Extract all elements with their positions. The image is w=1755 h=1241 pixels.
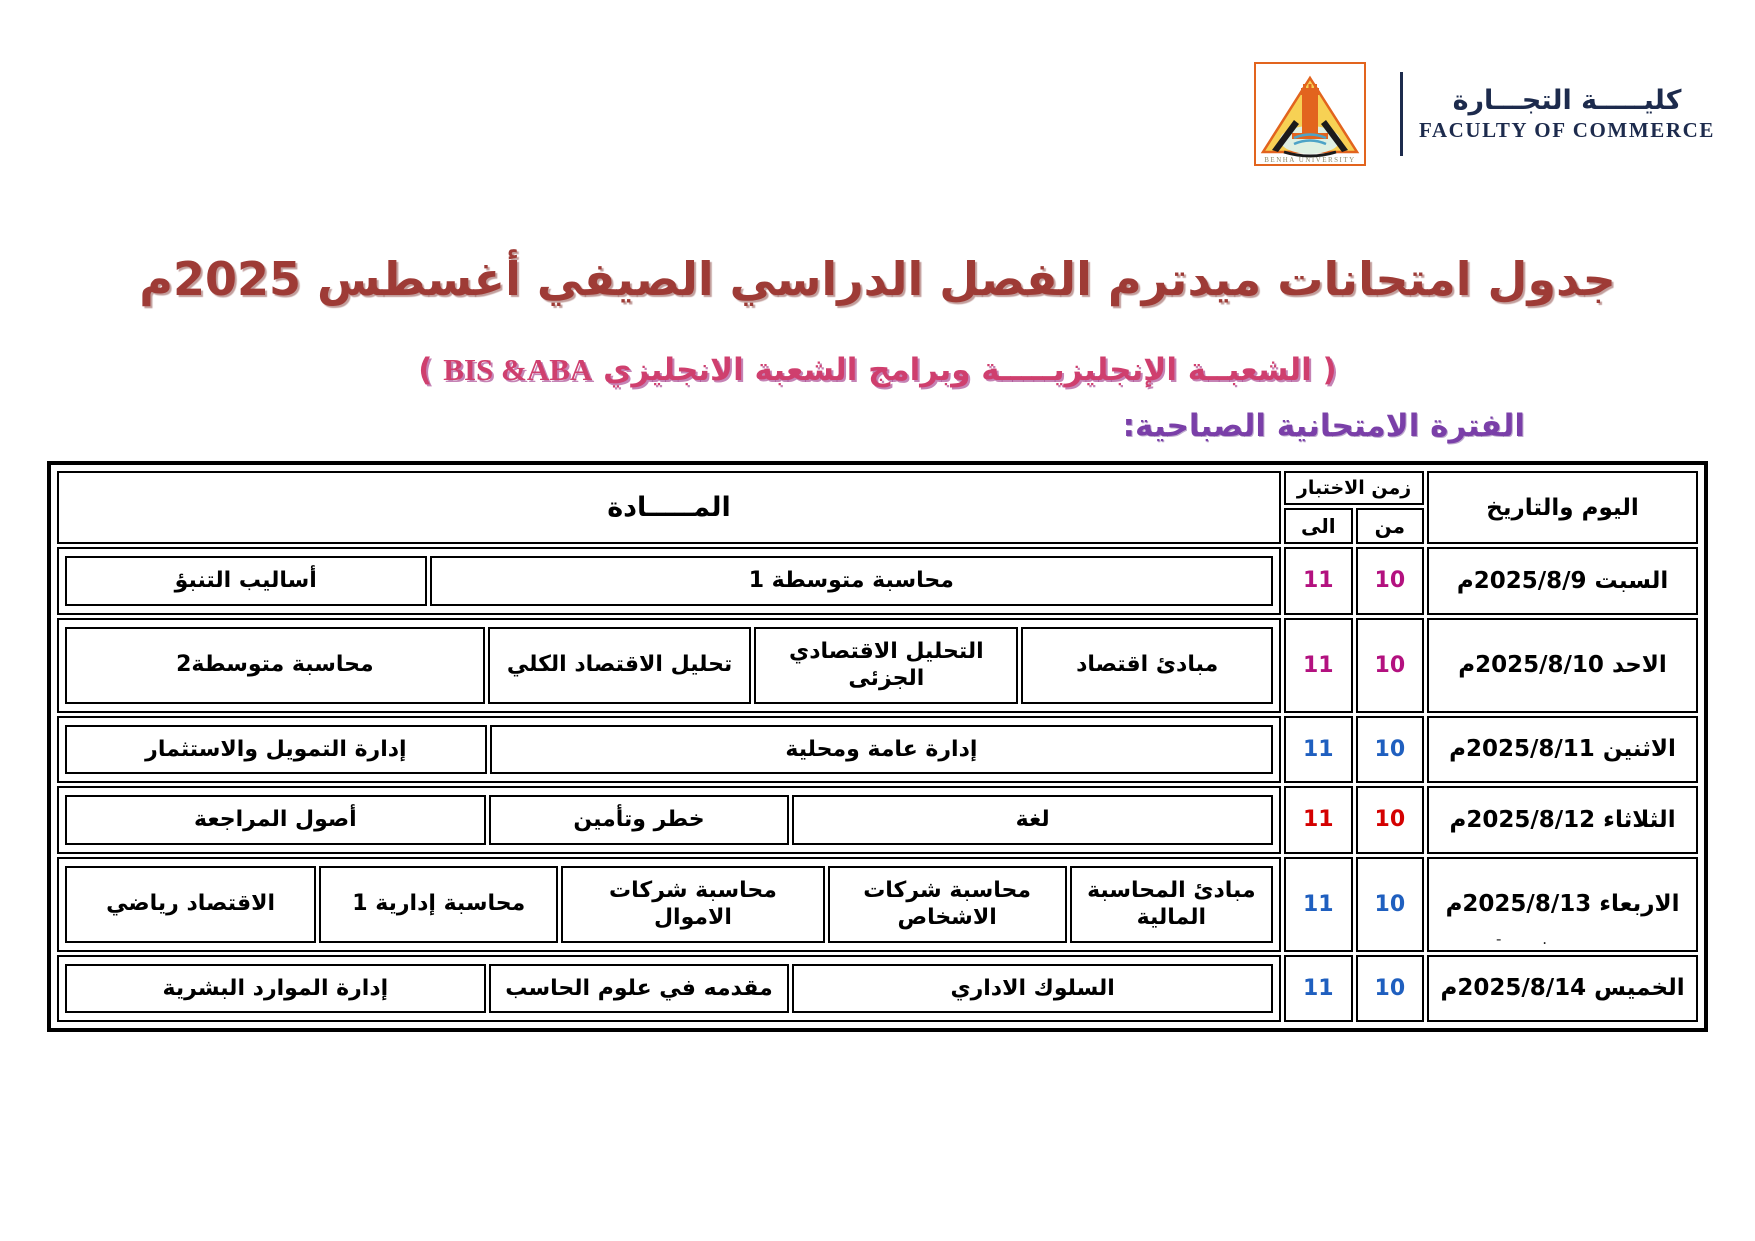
table-row: الاثنين 2025/8/11م1011إدارة عامة ومحليةإ… [57, 716, 1698, 784]
cell-time-from: 10 [1356, 716, 1425, 784]
cell-subject: محاسبة إدارية 1 [319, 866, 558, 943]
table-body: السبت 2025/8/9م1011محاسبة متوسطة 1أساليب… [57, 547, 1698, 1022]
subjects-row: لغةخطر وتأمينأصول المراجعة [65, 795, 1273, 845]
cell-subject: خطر وتأمين [489, 795, 790, 845]
cell-time-from: 10 [1356, 547, 1425, 615]
cell-subject: تحليل الاقتصاد الكلي [488, 627, 752, 704]
cell-subject: إدارة عامة ومحلية [490, 725, 1273, 775]
table-row: الاحد 2025/8/10م1011مبادئ اقتصادالتحليل … [57, 618, 1698, 713]
schedule-table-container: اليوم والتاريخ زمن الاختبار المـــــادة … [47, 461, 1708, 1032]
subjects-grid: لغةخطر وتأمينأصول المراجعة [62, 792, 1276, 848]
cell-day-date: الخميس 2025/8/14م [1427, 955, 1698, 1023]
subjects-grid: مبادئ اقتصادالتحليل الاقتصادي الجزئىتحلي… [62, 624, 1276, 707]
cell-subjects-group: السلوك الاداريمقدمه في علوم الحاسبإدارة … [57, 955, 1281, 1023]
cell-subject: التحليل الاقتصادي الجزئى [754, 627, 1018, 704]
cell-subject: أصول المراجعة [65, 795, 486, 845]
cell-day-date: السبت 2025/8/9م [1427, 547, 1698, 615]
header-subject: المـــــادة [57, 471, 1281, 544]
cell-time-to: 11 [1284, 786, 1353, 854]
subtitle-suffix: ) [418, 352, 443, 388]
subjects-row: مبادئ المحاسبة الماليةمحاسبة شركات الاشخ… [65, 866, 1273, 943]
faculty-name-english: FACULTY OF COMMERCE [1419, 118, 1715, 142]
subjects-grid: السلوك الاداريمقدمه في علوم الحاسبإدارة … [62, 961, 1276, 1017]
cell-day-date: الثلاثاء 2025/8/12م [1427, 786, 1698, 854]
cell-time-from: 10 [1356, 618, 1425, 713]
subtitle-program-codes: BIS &ABA [443, 352, 592, 387]
logo-caption: BENHA UNIVERSITY [1264, 156, 1355, 164]
cell-time-from: 10 [1356, 786, 1425, 854]
cell-subject: محاسبة متوسطة2 [65, 627, 485, 704]
subtitle-prefix: ( الشعبــة الإنجليزيـــــة وبرامج الشعبة… [592, 352, 1336, 388]
letterhead: BENHA UNIVERSITY كليـــــة التجـــارة FA… [1254, 62, 1715, 166]
cell-subject: مبادئ اقتصاد [1021, 627, 1273, 704]
cell-subject: محاسبة شركات الاموال [561, 866, 824, 943]
cell-subject: إدارة التمويل والاستثمار [65, 725, 487, 775]
exam-period-label: الفترة الامتحانية الصباحية: [1123, 408, 1525, 444]
letterhead-text: كليـــــة التجـــارة FACULTY OF COMMERCE [1419, 85, 1715, 142]
subjects-grid: محاسبة متوسطة 1أساليب التنبؤ [62, 553, 1276, 609]
cell-subject: مبادئ المحاسبة المالية [1070, 866, 1273, 943]
footer-marks: . - [1496, 930, 1565, 948]
table-row: الخميس 2025/8/14م1011السلوك الاداريمقدمه… [57, 955, 1698, 1023]
cell-subjects-group: محاسبة متوسطة 1أساليب التنبؤ [57, 547, 1281, 615]
cell-subject: مقدمه في علوم الحاسب [489, 964, 790, 1014]
cell-subject: محاسبة شركات الاشخاص [828, 866, 1067, 943]
cell-day-date: الاحد 2025/8/10م [1427, 618, 1698, 713]
cell-time-to: 11 [1284, 547, 1353, 615]
header-day-date: اليوم والتاريخ [1427, 471, 1698, 544]
cell-subject: السلوك الاداري [792, 964, 1273, 1014]
subjects-grid: مبادئ المحاسبة الماليةمحاسبة شركات الاشخ… [62, 863, 1276, 946]
subjects-row: مبادئ اقتصادالتحليل الاقتصادي الجزئىتحلي… [65, 627, 1273, 704]
header-row-main: اليوم والتاريخ زمن الاختبار المـــــادة [57, 471, 1698, 505]
subjects-grid: إدارة عامة ومحليةإدارة التمويل والاستثما… [62, 722, 1276, 778]
faculty-name-arabic: كليـــــة التجـــارة [1419, 85, 1715, 116]
table-row: السبت 2025/8/9م1011محاسبة متوسطة 1أساليب… [57, 547, 1698, 615]
cell-time-to: 11 [1284, 618, 1353, 713]
header-time-from: من [1356, 508, 1425, 544]
schedule-table: اليوم والتاريخ زمن الاختبار المـــــادة … [54, 468, 1701, 1025]
cell-subjects-group: إدارة عامة ومحليةإدارة التمويل والاستثما… [57, 716, 1281, 784]
header-exam-time: زمن الاختبار [1284, 471, 1424, 505]
table-row: الثلاثاء 2025/8/12م1011لغةخطر وتأمينأصول… [57, 786, 1698, 854]
cell-subject: لغة [792, 795, 1273, 845]
header-time-to: الى [1284, 508, 1353, 544]
cell-time-to: 11 [1284, 857, 1353, 952]
subjects-row: السلوك الاداريمقدمه في علوم الحاسبإدارة … [65, 964, 1273, 1014]
benha-university-logo: BENHA UNIVERSITY [1254, 62, 1366, 166]
cell-subjects-group: مبادئ المحاسبة الماليةمحاسبة شركات الاشخ… [57, 857, 1281, 952]
cell-day-date: الاثنين 2025/8/11م [1427, 716, 1698, 784]
cell-subject: الاقتصاد رياضي [65, 866, 316, 943]
page-subtitle: ( الشعبــة الإنجليزيـــــة وبرامج الشعبة… [0, 352, 1755, 388]
cell-time-from: 10 [1356, 955, 1425, 1023]
cell-time-from: 10 [1356, 857, 1425, 952]
cell-subjects-group: لغةخطر وتأمينأصول المراجعة [57, 786, 1281, 854]
cell-subject: إدارة الموارد البشرية [65, 964, 486, 1014]
table-row: الاربعاء 2025/8/13م1011مبادئ المحاسبة ال… [57, 857, 1698, 952]
table-header: اليوم والتاريخ زمن الاختبار المـــــادة … [57, 471, 1698, 544]
letterhead-divider [1400, 72, 1403, 156]
cell-time-to: 11 [1284, 716, 1353, 784]
page-title: جدول امتحانات ميدترم الفصل الدراسي الصيف… [0, 252, 1755, 306]
cell-subjects-group: مبادئ اقتصادالتحليل الاقتصادي الجزئىتحلي… [57, 618, 1281, 713]
cell-time-to: 11 [1284, 955, 1353, 1023]
cell-subject: أساليب التنبؤ [65, 556, 427, 606]
subjects-row: محاسبة متوسطة 1أساليب التنبؤ [65, 556, 1273, 606]
subjects-row: إدارة عامة ومحليةإدارة التمويل والاستثما… [65, 725, 1273, 775]
cell-subject: محاسبة متوسطة 1 [430, 556, 1274, 606]
